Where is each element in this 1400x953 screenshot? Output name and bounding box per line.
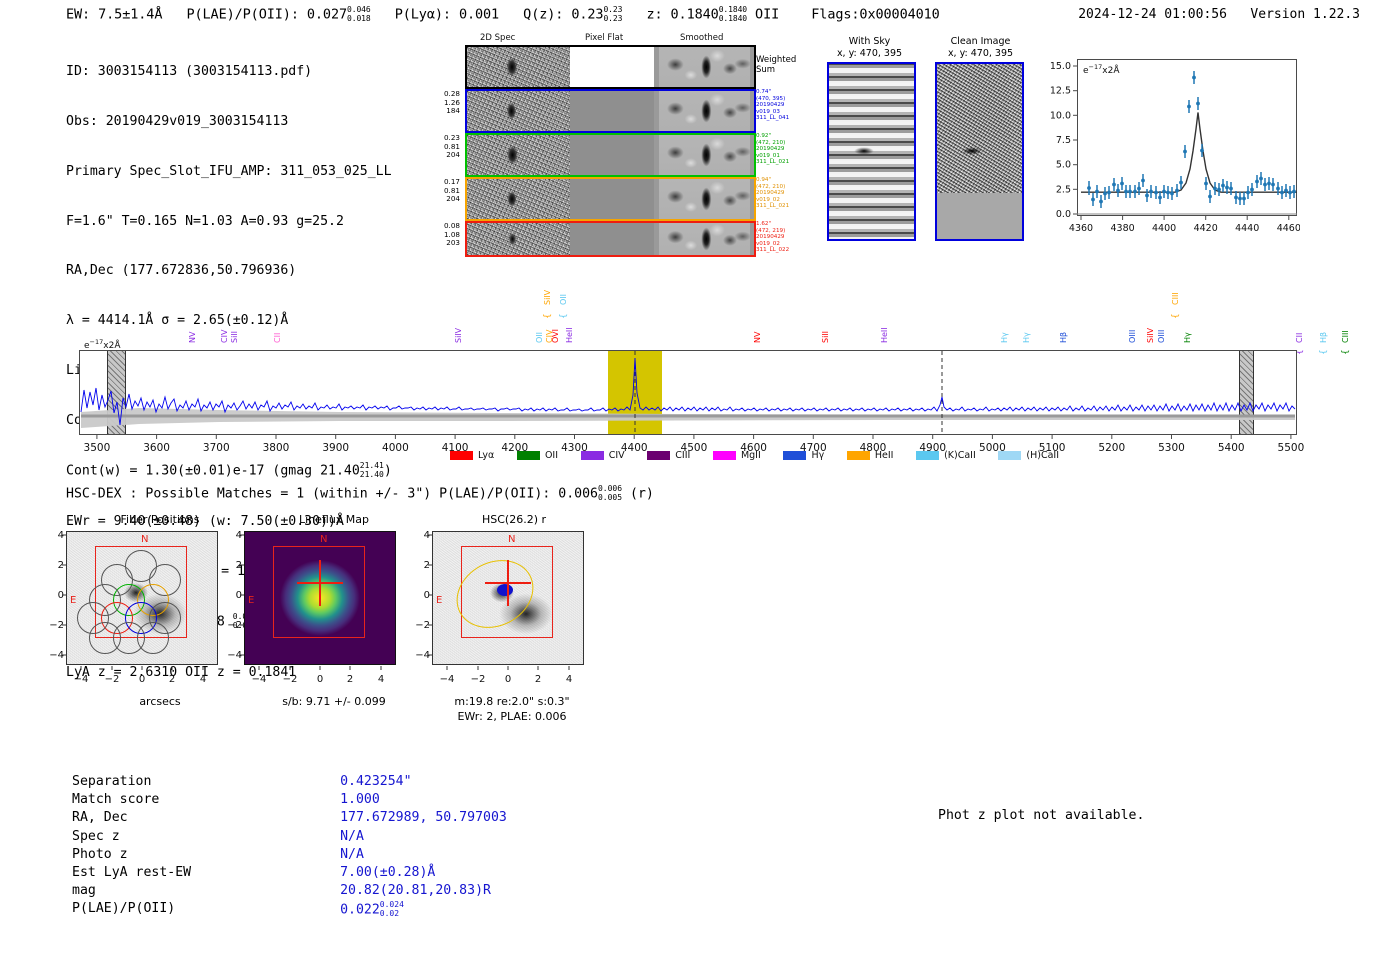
header-ew-value: 7.5±1.4Å [98, 7, 162, 23]
table-row: Est LyA rest-EW7.00(±0.28)Å [72, 865, 507, 881]
info-obs: Obs: 20190429v019_3003154113 [66, 114, 392, 131]
match-details-table: Separation0.423254" Match score1.000 RA,… [70, 772, 509, 921]
full-spectrum-chart: NV CIV SiII CII SiIV OVI HeII SiIV OII O… [79, 350, 1297, 435]
svg-text:4440: 4440 [1235, 223, 1259, 234]
svg-text:0: 0 [317, 674, 323, 685]
legend-item-hgamma: Hγ [783, 450, 824, 461]
spec2d-row-2 [465, 133, 756, 177]
svg-text:2: 2 [535, 674, 541, 685]
header-version: Version 1.22.3 [1250, 7, 1360, 22]
legend-item-hcaii: (H)CaII [998, 450, 1059, 461]
svg-text:2: 2 [347, 674, 353, 685]
svg-text:5300: 5300 [1158, 442, 1185, 454]
header-plya-value: 0.001 [459, 7, 499, 23]
panel-xlabel-hsc: m:19.8 re:2.0" s:0.3" [432, 695, 592, 708]
header-timestamp-version: 2024-12-24 01:00:56 Version 1.22.3 [1078, 7, 1360, 22]
spec2d-row-3-side-labels: 0.94"(472, 210)20190429v019_02311_LL_021 [756, 177, 789, 210]
panel-xlabel-sb: s/b: 9.71 +/- 0.099 [244, 695, 424, 708]
svg-text:3800: 3800 [263, 442, 290, 454]
clean-image-title: Clean Image x, y: 470, 395 [928, 36, 1033, 60]
svg-text:10.0: 10.0 [1050, 110, 1071, 121]
spec2d-weighted-sum-label: WeightedSum [756, 55, 796, 75]
svg-text:−2: −2 [49, 620, 64, 631]
svg-text:{: { [559, 313, 569, 319]
svg-text:3900: 3900 [322, 442, 349, 454]
svg-text:NV: NV [188, 331, 197, 343]
svg-text:OIII: OIII [1157, 330, 1166, 343]
header-plae-range: 0.0460.018 [347, 6, 371, 23]
svg-text:−2: −2 [105, 674, 120, 685]
svg-text:Hβ: Hβ [1059, 332, 1068, 343]
svg-text:−2: −2 [471, 674, 486, 685]
svg-text:−2: −2 [415, 620, 430, 631]
table-row: mag20.82(20.81,20.83)R [72, 883, 507, 899]
header-z-range: 0.18400.1840 [719, 6, 747, 23]
row-key: Spec z [72, 829, 201, 845]
svg-text:OII: OII [559, 294, 568, 305]
spec2d-row-4-left-values: 0.081.08203 [428, 222, 460, 248]
svg-text:7.5: 7.5 [1056, 135, 1071, 146]
row-value: 20.82(20.81,20.83)R [340, 883, 507, 899]
header-flags: Flags:0x00004010 [811, 7, 939, 23]
spec2d-row-3 [465, 177, 756, 221]
svg-text:0: 0 [505, 674, 511, 685]
svg-text:−4: −4 [415, 650, 430, 661]
svg-text:5.0: 5.0 [1056, 160, 1071, 171]
table-row: RA, Dec177.672989, 50.797003 [72, 810, 507, 826]
with-sky-image [827, 62, 916, 241]
row-value: 0.0220.0240.02 [340, 901, 507, 919]
svg-text:3500: 3500 [84, 442, 111, 454]
spec2d-panel-group: 2D Spec Pixel Flat Smoothed WeightedSum … [460, 33, 810, 248]
svg-text:−4: −4 [49, 650, 64, 661]
svg-text:{: { [543, 313, 553, 319]
svg-text:SiII: SiII [230, 331, 239, 343]
header-qz-label: Q(z): [523, 7, 563, 23]
row-key: Est LyA rest-EW [72, 865, 201, 881]
header-qz-range: 0.230.23 [603, 6, 622, 23]
spec2d-row-1 [465, 89, 756, 133]
svg-text:CIII: CIII [1341, 330, 1350, 343]
svg-text:4000: 4000 [382, 442, 409, 454]
svg-text:SiIV: SiIV [454, 327, 463, 343]
svg-text:−4: −4 [227, 650, 242, 661]
table-row: P(LAE)/P(OII)0.0220.0240.02 [72, 901, 507, 919]
svg-text:SiIV: SiIV [543, 289, 552, 305]
svg-text:5200: 5200 [1098, 442, 1125, 454]
svg-text:OII: OII [535, 332, 544, 343]
row-value: N/A [340, 847, 507, 863]
legend-item-lya: Lyα [450, 450, 494, 461]
spec2d-row-2-left-values: 0.230.81204 [428, 134, 460, 160]
spec2d-row-3-left-values: 0.170.81204 [428, 178, 460, 204]
table-row: Spec zN/A [72, 829, 507, 845]
header-plae-value: 0.027 [307, 7, 347, 23]
legend-item-mgii: MgII [713, 450, 761, 461]
svg-text:4460: 4460 [1277, 223, 1300, 234]
svg-text:{: { [1171, 313, 1181, 319]
row-value: N/A [340, 829, 507, 845]
row-value: 177.672989, 50.797003 [340, 810, 507, 826]
clean-image [935, 62, 1024, 241]
header-datetime: 2024-12-24 01:00:56 [1078, 7, 1227, 22]
svg-text:−4: −4 [74, 674, 89, 685]
legend-item-heii: HeII [847, 450, 894, 461]
line-profile-svg: 15.0 12.5 10.0 7.5 5.0 2.5 0.0 4360 4380… [1035, 57, 1300, 247]
spec2d-title-pixelflat: Pixel Flat [585, 33, 623, 43]
line-profile-data-points [1089, 71, 1294, 208]
svg-text:HeII: HeII [880, 327, 889, 343]
svg-text:2.5: 2.5 [1056, 184, 1071, 195]
svg-text:−4: −4 [252, 674, 267, 685]
svg-text:−2: −2 [227, 620, 242, 631]
svg-text:4400: 4400 [1152, 223, 1176, 234]
svg-text:3600: 3600 [143, 442, 170, 454]
svg-text:CIV: CIV [220, 329, 229, 343]
photz-unavailable-note: Phot z plot not available. [938, 808, 1144, 823]
full-spectrum-legend: Lyα OII CIV CIII MgII Hγ HeII (K)CaII (H… [450, 445, 1072, 464]
svg-text:3700: 3700 [203, 442, 230, 454]
header-z-value: 0.1840 [671, 7, 719, 23]
svg-text:CIII: CIII [1171, 292, 1180, 305]
svg-text:{: { [1341, 349, 1350, 355]
svg-text:4360: 4360 [1069, 223, 1093, 234]
svg-text:CII: CII [273, 333, 282, 343]
legend-item-civ: CIV [581, 450, 625, 461]
svg-text:0.0: 0.0 [1056, 209, 1071, 220]
spec2d-weighted-sum-row [465, 45, 756, 89]
info-seeing: F=1.6" T=0.165 N=1.03 A=0.93 g=25.2 [66, 214, 392, 231]
svg-text:4380: 4380 [1111, 223, 1135, 234]
table-row: Separation0.423254" [72, 774, 507, 790]
row-value: 0.423254" [340, 774, 507, 790]
spec2d-row-1-left-values: 0.281.26184 [428, 90, 460, 116]
row-key: Separation [72, 774, 201, 790]
svg-text:OIII: OIII [1128, 330, 1137, 343]
svg-text:Hγ: Hγ [1183, 332, 1192, 343]
row-key: RA, Dec [72, 810, 201, 826]
svg-text:4420: 4420 [1194, 223, 1218, 234]
svg-text:CII: CII [1295, 333, 1304, 343]
spec2d-row-1-side-labels: 0.74"(470, 395)20190429v019_03311_LL_041 [756, 89, 789, 122]
svg-text:{: { [1319, 349, 1329, 355]
bottom-panels-axes: 420 −2−4 420 −2−4 420 −2−4 −4−20 24 −4−2… [40, 520, 660, 710]
spec2d-row-4 [465, 221, 756, 257]
row-value: 7.00(±0.28)Å [340, 865, 507, 881]
svg-text:Hγ: Hγ [1000, 332, 1009, 343]
header-summary-line: EW: 7.5±1.4Å P(LAE)/P(OII): 0.0270.0460.… [66, 6, 940, 23]
svg-text:4: 4 [378, 674, 384, 685]
svg-text:NV: NV [753, 331, 762, 343]
svg-text:−2: −2 [283, 674, 298, 685]
header-z-line: OII [755, 7, 779, 23]
row-key: mag [72, 883, 201, 899]
info-id: ID: 3003154113 (3003154113.pdf) [66, 64, 392, 81]
row-key: Photo z [72, 847, 201, 863]
svg-text:−4: −4 [440, 674, 455, 685]
table-row: Match score1.000 [72, 792, 507, 808]
with-sky-title: With Sky x, y: 470, 395 [822, 36, 917, 60]
svg-text:5500: 5500 [1278, 442, 1305, 454]
panel-xlabel-arcsecs: arcsecs [65, 695, 255, 708]
legend-item-ciii: CIII [647, 450, 690, 461]
svg-text:4: 4 [200, 674, 206, 685]
spec2d-title-smoothed: Smoothed [680, 33, 723, 43]
svg-text:Hγ: Hγ [1022, 332, 1031, 343]
header-z-label: z: [646, 7, 662, 23]
line-profile-chart: e−17x2Å 15.0 12.5 10.0 7.5 5.0 2.5 0.0 [1035, 57, 1300, 247]
svg-text:HeII: HeII [565, 327, 574, 343]
svg-text:12.5: 12.5 [1050, 86, 1071, 97]
row-key: Match score [72, 792, 201, 808]
svg-text:5400: 5400 [1218, 442, 1245, 454]
full-spectrum-error-envelope [81, 408, 1295, 428]
table-row: Photo zN/A [72, 847, 507, 863]
row-value: 1.000 [340, 792, 507, 808]
full-spectrum-trace-svg: 0 5 10 [79, 350, 1297, 436]
spec2d-row-4-side-labels: 1.62"(472, 219)20190429v019_02311_LL_022 [756, 221, 789, 254]
legend-item-kcaii: (K)CaII [916, 450, 976, 461]
svg-text:Hβ: Hβ [1319, 332, 1328, 343]
header-plya-label: P(Lyα): [395, 7, 451, 23]
svg-text:SiIV: SiIV [1146, 327, 1155, 343]
svg-text:0: 0 [139, 674, 145, 685]
info-cont-w: Cont(w) = 1.30(±0.01)e-17 (gmag 21.4021.… [66, 462, 392, 480]
header-ew-label: EW: [66, 7, 90, 23]
svg-text:SiII: SiII [821, 331, 830, 343]
svg-text:4: 4 [566, 674, 572, 685]
panel-xlabel-hsc-2: EWr: 2, PLAE: 0.006 [432, 710, 592, 723]
spec2d-row-2-side-labels: 0.92"(472, 210)20190429v019_01311_LL_021 [756, 133, 789, 166]
header-plae-label: P(LAE)/P(OII): [186, 7, 298, 23]
header-qz-value: 0.23 [571, 7, 603, 23]
spec2d-title-2dspec: 2D Spec [480, 33, 515, 43]
row-key: P(LAE)/P(OII) [72, 901, 201, 919]
hsc-dex-title: HSC-DEX : Possible Matches = 1 (within +… [66, 485, 654, 502]
legend-item-oii: OII [517, 450, 558, 461]
svg-text:2: 2 [169, 674, 175, 685]
svg-text:15.0: 15.0 [1050, 61, 1071, 72]
info-spec-slot: Primary Spec_Slot_IFU_AMP: 311_053_025_L… [66, 164, 392, 181]
svg-text:CIV: CIV [545, 329, 554, 343]
